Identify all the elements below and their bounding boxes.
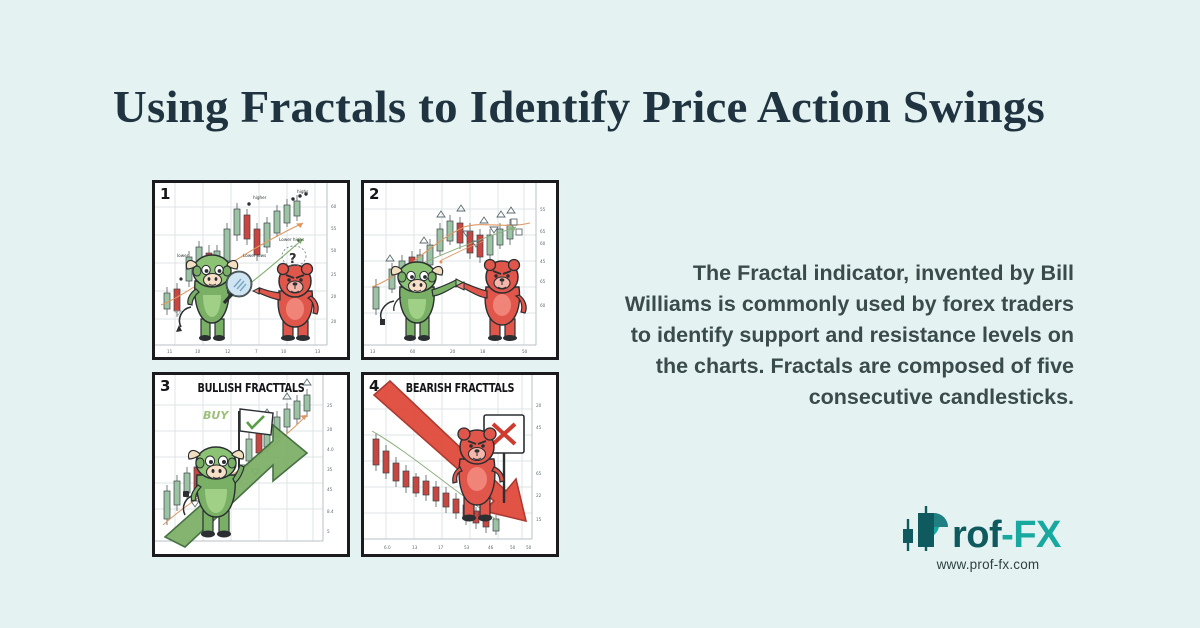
panel-3[interactable]: 2520 4.035 458.4 5 xyxy=(152,372,350,557)
svg-text:65: 65 xyxy=(540,279,546,284)
panel-4-heading: BEARISH FRACTTALS xyxy=(377,380,542,395)
svg-text:5: 5 xyxy=(327,529,330,534)
svg-text:60: 60 xyxy=(410,349,416,354)
brand-logo[interactable]: rof-FX www.prof-fx.com xyxy=(900,505,1080,572)
svg-text:20: 20 xyxy=(536,403,542,408)
svg-text:10: 10 xyxy=(281,349,287,354)
svg-text:53: 53 xyxy=(464,545,470,550)
logo-url[interactable]: www.prof-fx.com xyxy=(904,557,1072,572)
svg-text:22: 22 xyxy=(536,493,542,498)
svg-text:55: 55 xyxy=(540,207,546,212)
svg-text:13: 13 xyxy=(412,545,418,550)
logo-text-fx: FX xyxy=(1013,514,1061,556)
poster-canvas: Using Fractals to Identify Price Action … xyxy=(0,0,1200,628)
bull-character xyxy=(176,255,247,341)
svg-text:25: 25 xyxy=(327,403,333,408)
svg-text:35: 35 xyxy=(327,467,333,472)
svg-text:65: 65 xyxy=(540,229,546,234)
svg-text:50: 50 xyxy=(522,349,528,354)
svg-text:10: 10 xyxy=(195,349,201,354)
svg-text:Lower highs: Lower highs xyxy=(279,237,304,242)
body-paragraph: The Fractal indicator, invented by Bill … xyxy=(622,258,1074,413)
logo-text-rof: rof xyxy=(952,514,1001,556)
panel-2[interactable]: 5565 6045 6560 1360 2018 50 xyxy=(361,180,559,360)
svg-text:25: 25 xyxy=(331,272,337,277)
svg-text:65: 65 xyxy=(536,471,542,476)
svg-text:17: 17 xyxy=(438,545,444,550)
svg-text:45: 45 xyxy=(327,487,333,492)
page-title: Using Fractals to Identify Price Action … xyxy=(102,78,1046,136)
svg-text:50: 50 xyxy=(526,545,532,550)
svg-text:45: 45 xyxy=(540,259,546,264)
svg-text:13: 13 xyxy=(315,349,321,354)
svg-text:55: 55 xyxy=(331,226,337,231)
svg-text:50: 50 xyxy=(331,248,337,253)
logo-text-dash: - xyxy=(1001,514,1013,556)
logo-wordmark: rof-FX xyxy=(952,518,1061,553)
svg-text:20: 20 xyxy=(450,349,456,354)
svg-text:60: 60 xyxy=(540,241,546,246)
panel-3-heading: BULLISH FRACTTALS xyxy=(168,380,333,395)
svg-text:18: 18 xyxy=(480,349,486,354)
bear-character xyxy=(456,260,526,342)
magnifier-icon xyxy=(224,272,252,304)
svg-text:20: 20 xyxy=(331,319,337,324)
candlestick-p-mark-icon xyxy=(900,505,958,553)
svg-text:7: 7 xyxy=(255,349,258,354)
svg-text:6.0: 6.0 xyxy=(384,545,391,550)
panel-2-number: 2 xyxy=(369,185,379,203)
svg-text:20: 20 xyxy=(327,427,333,432)
panel-1-number: 1 xyxy=(160,185,170,203)
panel-4[interactable]: 2045 6522 15 6.013 1753 4650 50 xyxy=(361,372,559,557)
svg-text:50: 50 xyxy=(510,545,516,550)
svg-text:20: 20 xyxy=(331,294,337,299)
svg-text:46: 46 xyxy=(488,545,494,550)
buy-label: BUY xyxy=(203,409,229,422)
svg-text:45: 45 xyxy=(536,425,542,430)
svg-text:higher: higher xyxy=(253,195,267,200)
svg-text:Lower lows: Lower lows xyxy=(243,253,266,258)
svg-text:lower: lower xyxy=(177,253,189,258)
bear-character xyxy=(253,264,318,342)
svg-text:13: 13 xyxy=(370,349,376,354)
svg-text:15: 15 xyxy=(536,517,542,522)
svg-text:highs: highs xyxy=(297,189,308,194)
panel-1[interactable]: 6055 5025 2020 1110 127 1013 xyxy=(152,180,350,360)
bull-character xyxy=(380,262,464,341)
svg-text:4.0: 4.0 xyxy=(327,447,334,452)
svg-text:12: 12 xyxy=(225,349,231,354)
svg-text:60: 60 xyxy=(331,204,337,209)
svg-text:8.4: 8.4 xyxy=(327,509,334,514)
svg-text:60: 60 xyxy=(540,303,546,308)
svg-text:11: 11 xyxy=(167,349,173,354)
logo-row: rof-FX xyxy=(900,505,1080,553)
svg-text:?: ? xyxy=(289,252,297,267)
